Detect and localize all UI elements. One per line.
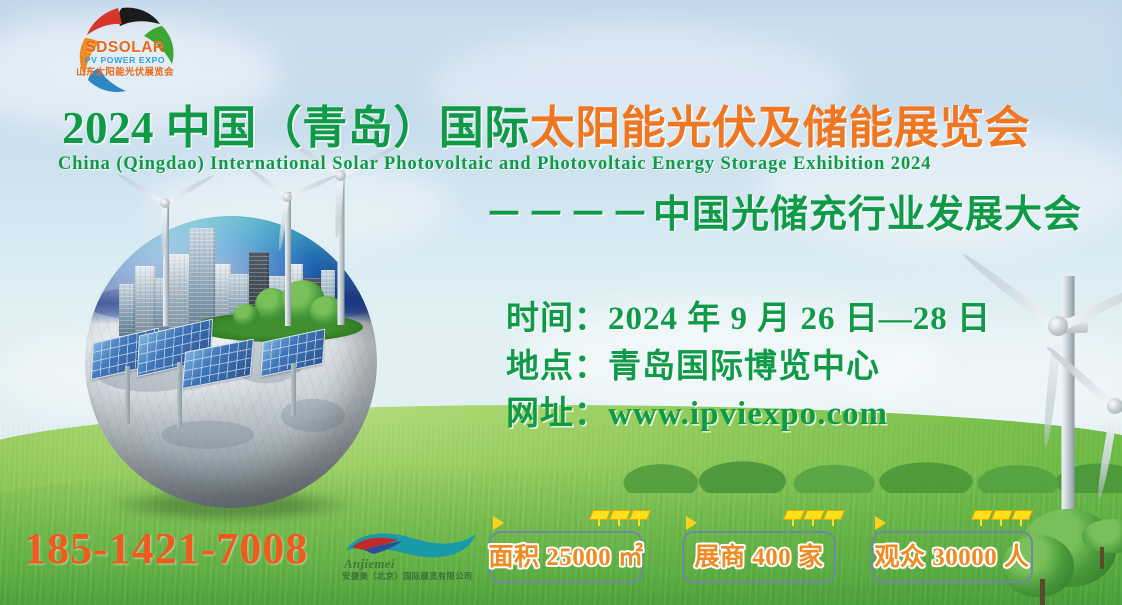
sub-title: －－－－中国光储充行业发展大会 [485, 196, 1082, 234]
exhibition-poster: SDSOLAR PV POWER EXPO 山东太阳能光伏展览会 2024 中国… [0, 0, 1122, 605]
event-info-block: 时间：2024 年 9 月 26 日—28 日 地点：青岛国际博览中心 网址：w… [506, 296, 991, 439]
solar-panel-post [125, 366, 130, 424]
solar-panel-icon [785, 510, 801, 526]
solar-panel-icon [993, 510, 1009, 526]
anjiemei-chinese: 安捷美（北京）国际展览有限公司 [342, 570, 473, 582]
event-venue-row: 地点：青岛国际博览中心 [506, 344, 991, 392]
globe-wind-turbine [281, 150, 401, 325]
globe-wind-turbine [111, 176, 221, 326]
solar-icon-group [785, 510, 841, 526]
logo-cn-text: 山东太阳能光伏展览会 [60, 67, 190, 76]
solar-panel-icon [1013, 510, 1029, 526]
main-title-english: China (Qingdao) International Solar Phot… [58, 155, 931, 174]
event-url-row[interactable]: 网址：www.ipviexpo.com [506, 391, 991, 439]
solar-panel-icon [591, 510, 607, 526]
solar-panel-icon [973, 510, 989, 526]
main-title-orange: 太阳能光伏及储能展览会 [530, 103, 1031, 153]
stat-text-exhibitors: 展商 400 家 [694, 545, 823, 570]
stat-box-exhibitors: 展商 400 家 [682, 531, 836, 583]
solar-panel-icon [611, 510, 627, 526]
solar-panel-post [291, 364, 296, 416]
stat-box-area: 面积 25000 ㎡ [489, 531, 643, 583]
sdsolar-logo[interactable]: SDSOLAR PV POWER EXPO 山东太阳能光伏展览会 [60, 2, 190, 94]
stat-box-visitors: 观众 30000 人 [871, 531, 1033, 583]
main-title-green: 2024 中国（青岛）国际 [62, 103, 530, 153]
tree-trunk [1040, 579, 1045, 605]
solar-panel-icon [805, 510, 821, 526]
tree-trunk [1100, 547, 1104, 569]
solar-panel-icon [825, 510, 841, 526]
globe-illustration [85, 318, 377, 508]
event-date-row: 时间：2024 年 9 月 26 日—28 日 [506, 296, 991, 344]
logo-main-text: SDSOLAR [60, 40, 190, 56]
solar-panel-icon [631, 510, 647, 526]
solar-panel-post [177, 362, 182, 428]
arrow-icon [493, 516, 504, 530]
stat-text-area: 面积 25000 ㎡ [489, 545, 644, 570]
solar-icon-group [973, 510, 1029, 526]
sub-title-text: 中国光储充行业发展大会 [653, 194, 1082, 236]
arrow-icon [875, 516, 886, 530]
logo-sub-text: PV POWER EXPO [60, 56, 190, 65]
solar-icon-group [591, 510, 647, 526]
contact-phone[interactable]: 185-1421-7008 [24, 527, 308, 571]
main-title: 2024 中国（青岛）国际太阳能光伏及储能展览会 [62, 106, 1030, 151]
sub-title-dashes: －－－－ [485, 194, 653, 236]
stat-text-visitors: 观众 30000 人 [874, 545, 1029, 570]
anjiemei-logo[interactable]: Anjiemei 安捷美（北京）国际展览有限公司 [338, 528, 484, 584]
arrow-icon [686, 516, 697, 530]
